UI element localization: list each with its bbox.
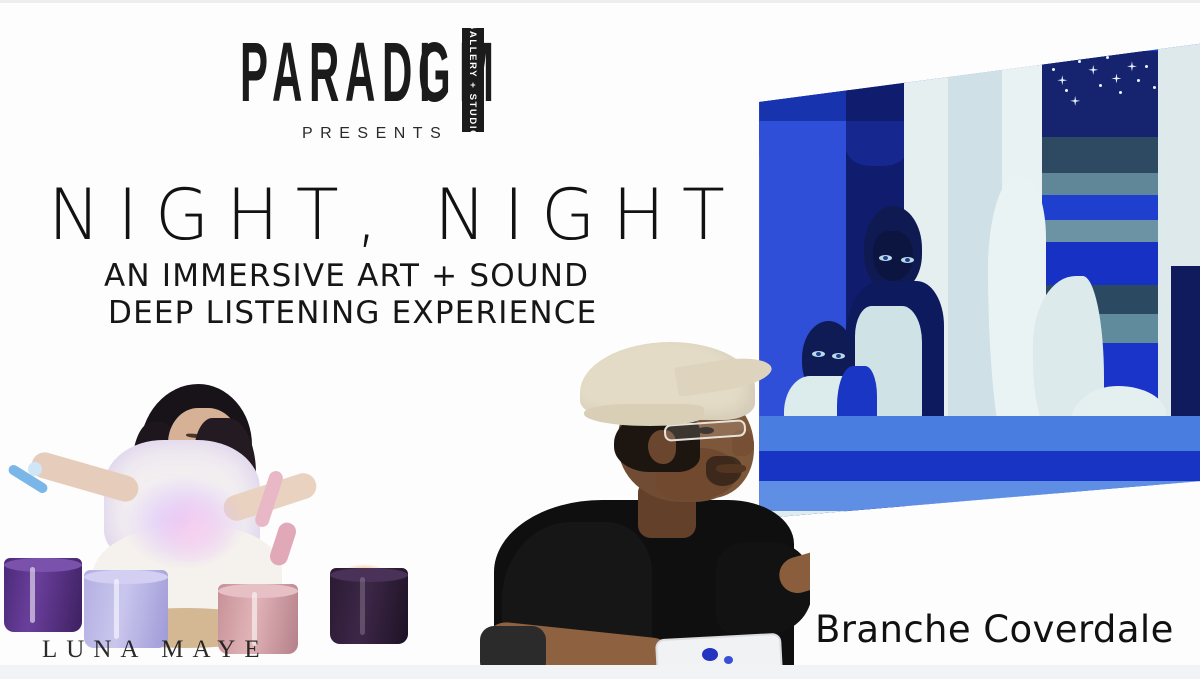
- painting-band-3: [757, 481, 1200, 511]
- star-sparkle-icon: [1111, 73, 1121, 83]
- amethyst-bowl: [4, 558, 82, 632]
- paint-blob: [702, 648, 718, 661]
- obsidian-bowl: [330, 568, 408, 644]
- bowl-shine: [30, 567, 35, 623]
- stripe-night-sky: [1042, 51, 1171, 137]
- stripe-slate: [1042, 137, 1171, 173]
- bottom-edge-divider: [0, 665, 1200, 679]
- cap-band: [584, 404, 704, 426]
- stripe-steel-2: [1042, 220, 1171, 242]
- painting-band-1: [757, 416, 1200, 451]
- bowl-shine: [360, 577, 365, 635]
- star-dot-icon: [1065, 89, 1068, 92]
- visual-artist-credit: Branche Coverdale: [815, 608, 1174, 651]
- presents-label: PRESENTS: [302, 125, 448, 143]
- star-sparkle-icon: [1057, 75, 1067, 85]
- stripe-royal: [1042, 242, 1171, 285]
- painting-figure-1-mask: [873, 231, 913, 281]
- page-title: NIGHT, NIGHT: [48, 180, 742, 250]
- gallery-logo[interactable]: P A R A D I G M GALLERY + STUDIO PRESENT…: [240, 26, 520, 156]
- figure-eye-icon: [879, 255, 892, 261]
- star-dot-icon: [1145, 65, 1148, 68]
- artist-photo: [480, 330, 810, 679]
- painting-drip-shape: [846, 121, 908, 166]
- star-dot-icon: [1078, 60, 1081, 63]
- figure-eye-icon: [901, 257, 914, 263]
- star-dot-icon: [1153, 86, 1156, 89]
- canvas-surface: [757, 36, 1200, 536]
- paint-blob: [724, 656, 733, 664]
- bowl-rim: [218, 584, 298, 598]
- painting-scallop: [757, 121, 850, 156]
- subtitle-line-2: DEEP LISTENING EXPERIENCE: [108, 295, 597, 331]
- star-sparkle-icon: [1070, 96, 1080, 106]
- star-dot-icon: [1119, 91, 1122, 94]
- gallery-studio-tag-label: GALLERY + STUDIO: [468, 21, 479, 138]
- star-dot-icon: [1106, 56, 1109, 59]
- wordmark-letter: D: [382, 36, 411, 108]
- star-dot-icon: [1137, 79, 1140, 82]
- bowl-rim: [84, 570, 168, 584]
- painting-photo: [757, 36, 1200, 536]
- event-poster: P A R A D I G M GALLERY + STUDIO PRESENT…: [0, 0, 1200, 679]
- stripe-cobalt: [1042, 195, 1171, 220]
- top-edge-divider: [0, 0, 1200, 3]
- painting-band-4: [757, 511, 1200, 536]
- star-sparkle-icon: [1088, 65, 1098, 75]
- bowl-shine: [114, 579, 119, 638]
- figure-eye-icon: [832, 353, 845, 359]
- subtitle-line-1: AN IMMERSIVE ART + SOUND: [104, 258, 589, 294]
- bowl-rim: [330, 568, 408, 582]
- wordmark-letter: A: [345, 36, 374, 108]
- artist-lips: [716, 464, 746, 473]
- sound-artist-credit: LUNA MAYE: [42, 636, 269, 664]
- gallery-studio-tag: GALLERY + STUDIO: [462, 28, 484, 132]
- star-dot-icon: [1099, 84, 1102, 87]
- wordmark-letter: G: [418, 36, 450, 108]
- bowl-rim: [4, 558, 82, 572]
- wordmark-letter: A: [272, 36, 301, 108]
- figure-eye-icon: [812, 351, 825, 357]
- star-sparkle-icon: [1127, 61, 1137, 71]
- star-dot-icon: [1052, 68, 1055, 71]
- painting-band-2: [757, 451, 1200, 481]
- singing-bowls-group: [0, 378, 420, 658]
- wordmark-letter: R: [309, 36, 338, 108]
- wordmark-letter: P: [240, 36, 267, 108]
- stripe-steel: [1042, 173, 1171, 195]
